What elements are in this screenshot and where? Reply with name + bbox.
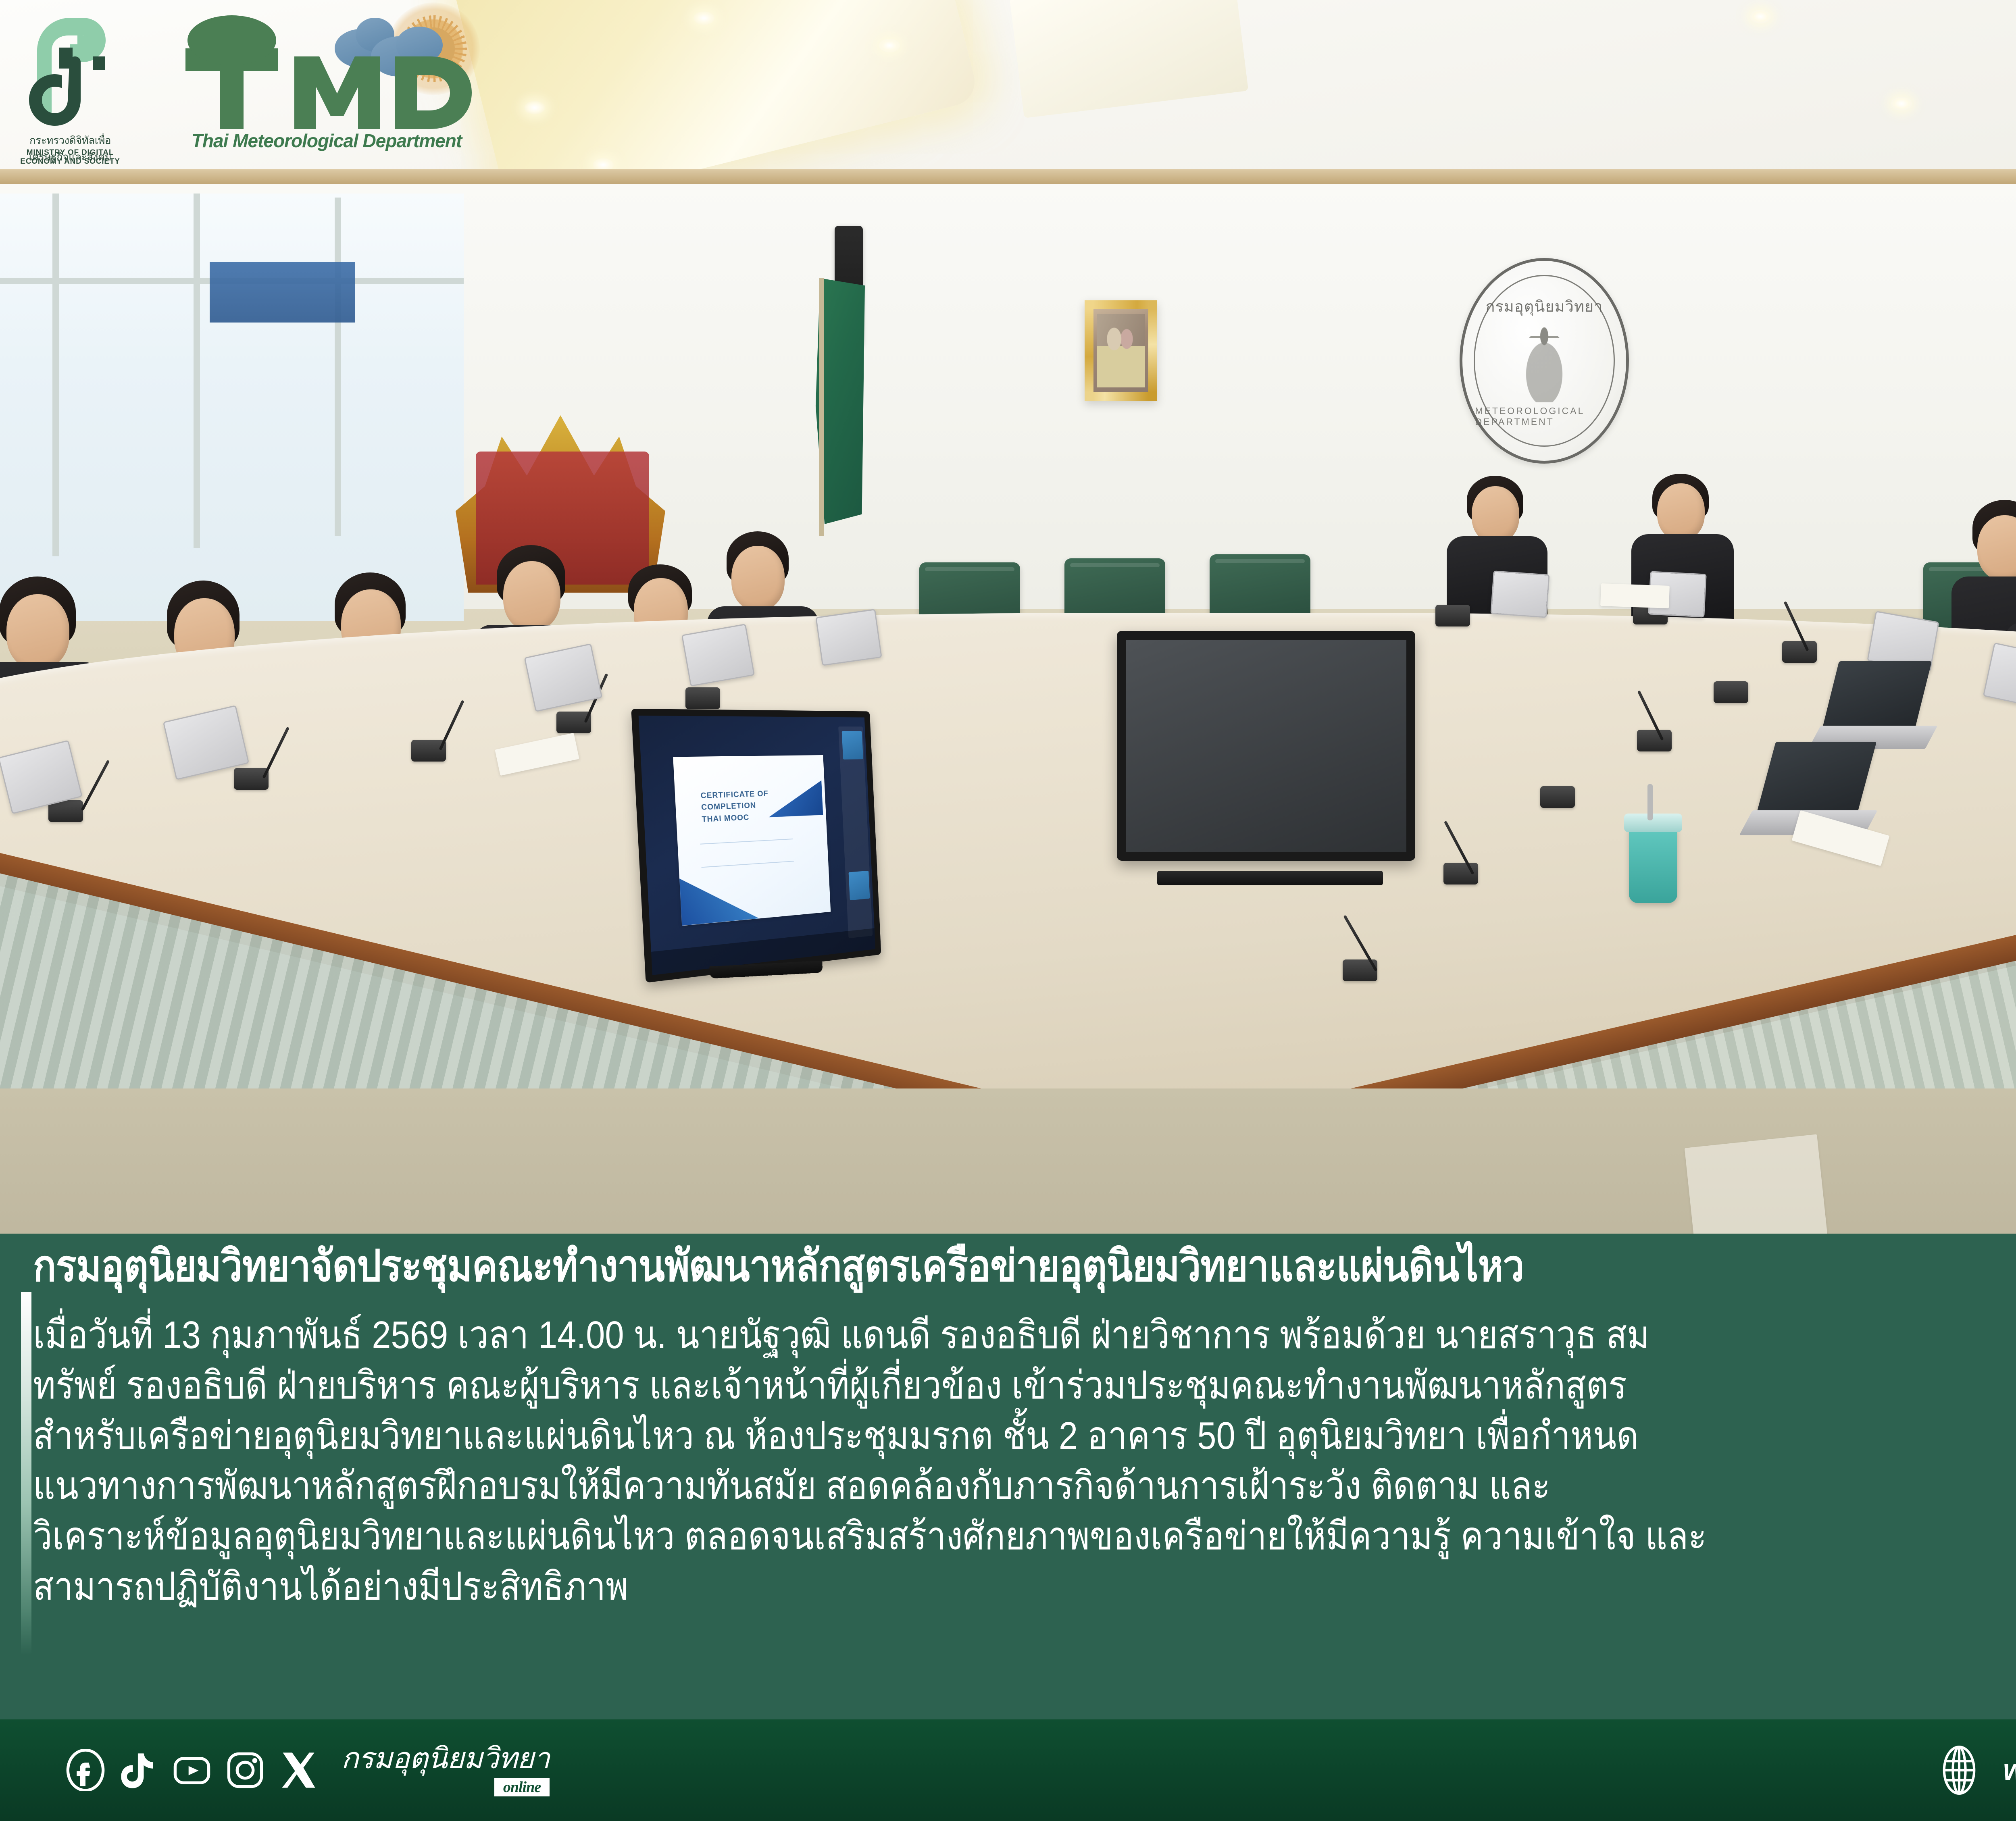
downlight xyxy=(879,39,900,52)
royal-portrait-frame xyxy=(1085,300,1157,401)
article-body-line: วิเคราะห์ข้อมูลอุตุนิยมวิทยาและแผ่นดินไห… xyxy=(33,1511,2016,1562)
conference-microphone-base xyxy=(234,768,269,790)
instagram-icon[interactable] xyxy=(224,1749,266,1791)
downlight xyxy=(1891,97,1912,110)
flag-pole xyxy=(819,278,824,536)
de-ministry-glyph-icon xyxy=(22,10,119,131)
tmd-logo-english-label: Thai Meteorological Department xyxy=(161,130,492,152)
footer-brand: กรมอุตุนิยมวิทยา online xyxy=(341,1744,550,1796)
footer-brand-handle: กรมอุตุนิยมวิทยา xyxy=(341,1744,550,1773)
drink-straw xyxy=(1647,784,1653,820)
facebook-icon[interactable] xyxy=(65,1749,106,1791)
conference-microphone-base xyxy=(685,687,720,709)
article-body-line: สำหรับเครือข่ายอุตุนิยมวิทยาและแผ่นดินไห… xyxy=(33,1411,2016,1461)
footer-bar: กรมอุตุนิยมวิทยา online www.tmd.go.th 11… xyxy=(0,1719,2016,1821)
person-head xyxy=(1657,483,1705,540)
article-body-line: สามารถปฏิบัติงานได้อย่างมีประสิทธิภาพ xyxy=(33,1562,2016,1612)
presentation-monitor: CERTIFICATE OF COMPLETION THAI MOOC xyxy=(631,709,881,983)
tmd-acronym-icon xyxy=(161,0,492,133)
ministry-logo-english-label: MINISTRY OF DIGITAL ECONOMY AND SOCIETY xyxy=(10,148,131,166)
ministry-logo: กระทรวงดิจิทัลเพื่อเศรษฐกิจและสังคม MINI… xyxy=(10,6,131,168)
footer-social-group: กรมอุตุนิยมวิทยา online xyxy=(65,1744,550,1796)
tablet-device xyxy=(815,609,882,666)
person-head xyxy=(6,594,69,669)
slide-title: CERTIFICATE OF COMPLETION THAI MOOC xyxy=(700,787,804,826)
conference-microphone-base xyxy=(1637,730,1672,751)
window-wall xyxy=(0,194,464,621)
article-body-line: แนวทางการพัฒนาหลักสูตรฝึกอบรมให้มีความทั… xyxy=(33,1461,2016,1511)
presentation-slide: CERTIFICATE OF COMPLETION THAI MOOC xyxy=(673,755,831,926)
downlight xyxy=(1750,10,1771,23)
video-participant-thumbnail xyxy=(848,871,870,900)
conference-microphone-base xyxy=(1540,786,1575,808)
accent-bar xyxy=(21,1292,31,1655)
person-head xyxy=(503,561,560,631)
large-display-screen xyxy=(1117,631,1415,861)
slide-rule xyxy=(701,861,794,868)
conference-microphone-base xyxy=(1435,605,1470,626)
person-head xyxy=(1472,486,1519,543)
tmd-logo: Thai Meteorological Department xyxy=(161,0,492,161)
slide-subtitle-text: THAI MOOC xyxy=(702,813,750,824)
conference-microphone-base xyxy=(1782,641,1817,663)
tablet-device xyxy=(681,624,755,687)
laptop-device xyxy=(1822,661,1932,730)
wall-emblem-figure xyxy=(1514,322,1574,402)
slide-decor-wedge xyxy=(679,873,759,926)
article-body-line: เมื่อวันที่ 13 กุมภาพันธ์ 2569 เวลา 14.0… xyxy=(33,1310,2016,1361)
header-logo-group: กระทรวงดิจิทัลเพื่อเศรษฐกิจและสังคม MINI… xyxy=(0,0,504,177)
window-blind xyxy=(210,262,355,323)
window-mullion xyxy=(194,194,200,548)
globe-icon xyxy=(1938,1745,1980,1795)
youtube-icon[interactable] xyxy=(171,1749,213,1791)
tablet-device xyxy=(1490,570,1549,618)
article-body: เมื่อวันที่ 13 กุมภาพันธ์ 2569 เวลา 14.0… xyxy=(33,1310,2016,1612)
footer-online-badge: online xyxy=(494,1778,550,1796)
x-twitter-icon[interactable] xyxy=(277,1749,319,1791)
drink-tumbler-lid xyxy=(1624,814,1682,832)
downlight xyxy=(524,101,545,114)
paper-document xyxy=(1685,1134,1827,1248)
large-display-stand xyxy=(1157,871,1383,885)
tiktok-icon[interactable] xyxy=(118,1749,160,1791)
wall-emblem-english-text: METEOROLOGICAL DEPARTMENT xyxy=(1475,406,1613,427)
laptop-device xyxy=(1756,742,1876,814)
meeting-room-photo: กรมอุตุนิยมวิทยา METEOROLOGICAL DEPARTME… xyxy=(0,0,2016,1266)
wall-emblem-thai-text: กรมอุตุนิยมวิทยา xyxy=(1485,294,1603,318)
wall-emblem-seal: กรมอุตุนิยมวิทยา METEOROLOGICAL DEPARTME… xyxy=(1460,258,1629,464)
window-mullion xyxy=(335,198,341,536)
drink-tumbler xyxy=(1629,826,1677,903)
downlight xyxy=(694,11,714,25)
footer-contact-group: www.tmd.go.th 1182 สายด่วน xyxy=(1938,1733,2016,1807)
poster-canvas: กรมอุตุนิยมวิทยา METEOROLOGICAL DEPARTME… xyxy=(0,0,2016,1821)
slide-title-text: CERTIFICATE OF COMPLETION xyxy=(700,789,768,812)
conference-microphone-base xyxy=(1714,681,1748,703)
slide-rule xyxy=(700,839,793,845)
footer-website-url[interactable]: www.tmd.go.th xyxy=(2003,1752,2016,1788)
article-body-line: ทรัพย์ รองอธิบดี ฝ่ายบริหาร คณะผู้บริหาร… xyxy=(33,1361,2016,1411)
person-head xyxy=(731,546,785,610)
wall-emblem-inner: กรมอุตุนิยมวิทยา METEOROLOGICAL DEPARTME… xyxy=(1474,275,1614,447)
video-participant-thumbnail xyxy=(841,731,863,760)
conference-microphone-base xyxy=(411,740,446,762)
window-mullion xyxy=(52,194,59,556)
article-headline: กรมอุตุนิยมวิทยาจัดประชุมคณะทำงานพัฒนาหล… xyxy=(33,1242,2016,1290)
paper-document xyxy=(1600,583,1670,608)
